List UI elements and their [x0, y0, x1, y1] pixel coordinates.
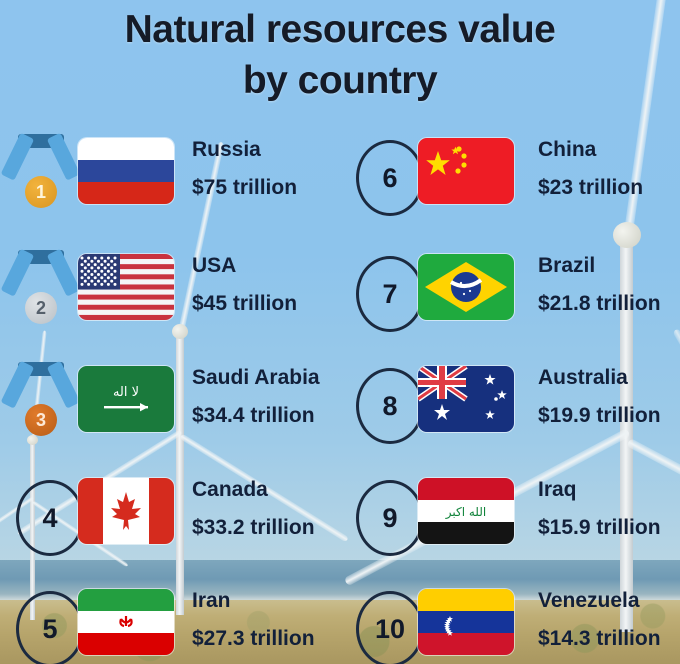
country-info: Iraq $15.9 trillion: [538, 474, 680, 544]
rank-circle: 9: [346, 474, 412, 556]
flag-icon-iq: الله اكبر: [418, 478, 514, 544]
country-info: Brazil $21.8 trillion: [538, 250, 680, 320]
country-value: $45 trillion: [192, 288, 340, 320]
ranking-row: 1 Russia $75 trillion: [0, 134, 340, 220]
rank-circle: 6: [346, 134, 412, 216]
flag-icon-ca: [78, 478, 174, 544]
page-title: Natural resources value by country: [0, 4, 680, 106]
ranking-row: 9الله اكبرIraq $15.9 trillion: [340, 474, 680, 560]
country-info: Saudi Arabia $34.4 trillion: [192, 362, 340, 432]
country-info: Russia $75 trillion: [192, 134, 340, 204]
rank-circle: 7: [346, 250, 412, 332]
ranking-row: 4Canada $33.2 trillion: [0, 474, 340, 560]
country-name: Iran: [192, 585, 340, 617]
country-name: Venezuela: [538, 585, 680, 617]
ranking-row: 6China $23 trillion: [340, 134, 680, 220]
medal-icon: 3: [6, 362, 72, 444]
country-info: Venezuela $14.3 trillion: [538, 585, 680, 655]
country-name: Russia: [192, 134, 340, 166]
flag-icon-ir: [78, 589, 174, 655]
country-info: Canada $33.2 trillion: [192, 474, 340, 544]
country-value: $27.3 trillion: [192, 623, 340, 655]
flag-icon-br: [418, 254, 514, 320]
country-name: Saudi Arabia: [192, 362, 340, 394]
country-value: $19.9 trillion: [538, 400, 680, 432]
rank-circle: 8: [346, 362, 412, 444]
country-name: Australia: [538, 362, 680, 394]
country-value: $15.9 trillion: [538, 512, 680, 544]
country-info: Australia $19.9 trillion: [538, 362, 680, 432]
title-line-2: by country: [0, 55, 680, 106]
country-value: $33.2 trillion: [192, 512, 340, 544]
country-info: USA $45 trillion: [192, 250, 340, 320]
country-value: $75 trillion: [192, 172, 340, 204]
flag-icon-au: [418, 366, 514, 432]
medal-icon: 2: [6, 250, 72, 332]
country-name: USA: [192, 250, 340, 282]
rank-circle: 5: [6, 585, 72, 664]
flag-icon-ve: [418, 589, 514, 655]
ranking-row: 2 USA $45 trillion: [0, 250, 340, 336]
flag-icon-us: [78, 254, 174, 320]
country-value: $34.4 trillion: [192, 400, 340, 432]
country-value: $14.3 trillion: [538, 623, 680, 655]
country-value: $23 trillion: [538, 172, 680, 204]
ranking-row: 3 لا الهSaudi Arabia $34.4 trillion: [0, 362, 340, 448]
flag-icon-ru: [78, 138, 174, 204]
rank-circle: 4: [6, 474, 72, 556]
ranking-row: 8Australia $19.9 trillion: [340, 362, 680, 448]
country-name: China: [538, 134, 680, 166]
country-name: Canada: [192, 474, 340, 506]
ranking-row: 5Iran $27.3 trillion: [0, 585, 340, 664]
medal-icon: 1: [6, 134, 72, 216]
country-info: China $23 trillion: [538, 134, 680, 204]
country-value: $21.8 trillion: [538, 288, 680, 320]
title-line-1: Natural resources value: [0, 4, 680, 55]
infographic: Natural resources value by country 1 Rus…: [0, 0, 680, 664]
country-name: Brazil: [538, 250, 680, 282]
flag-icon-cn: [418, 138, 514, 204]
ranking-row: 10Venezuela $14.3 trillion: [340, 585, 680, 664]
country-info: Iran $27.3 trillion: [192, 585, 340, 655]
country-name: Iraq: [538, 474, 680, 506]
ranking-row: 7Brazil $21.8 trillion: [340, 250, 680, 336]
rank-circle: 10: [346, 585, 412, 664]
svg-text:الله اكبر: الله اكبر: [445, 505, 487, 520]
flag-icon-sa: لا اله: [78, 366, 174, 432]
svg-text:لا اله: لا اله: [113, 385, 139, 400]
